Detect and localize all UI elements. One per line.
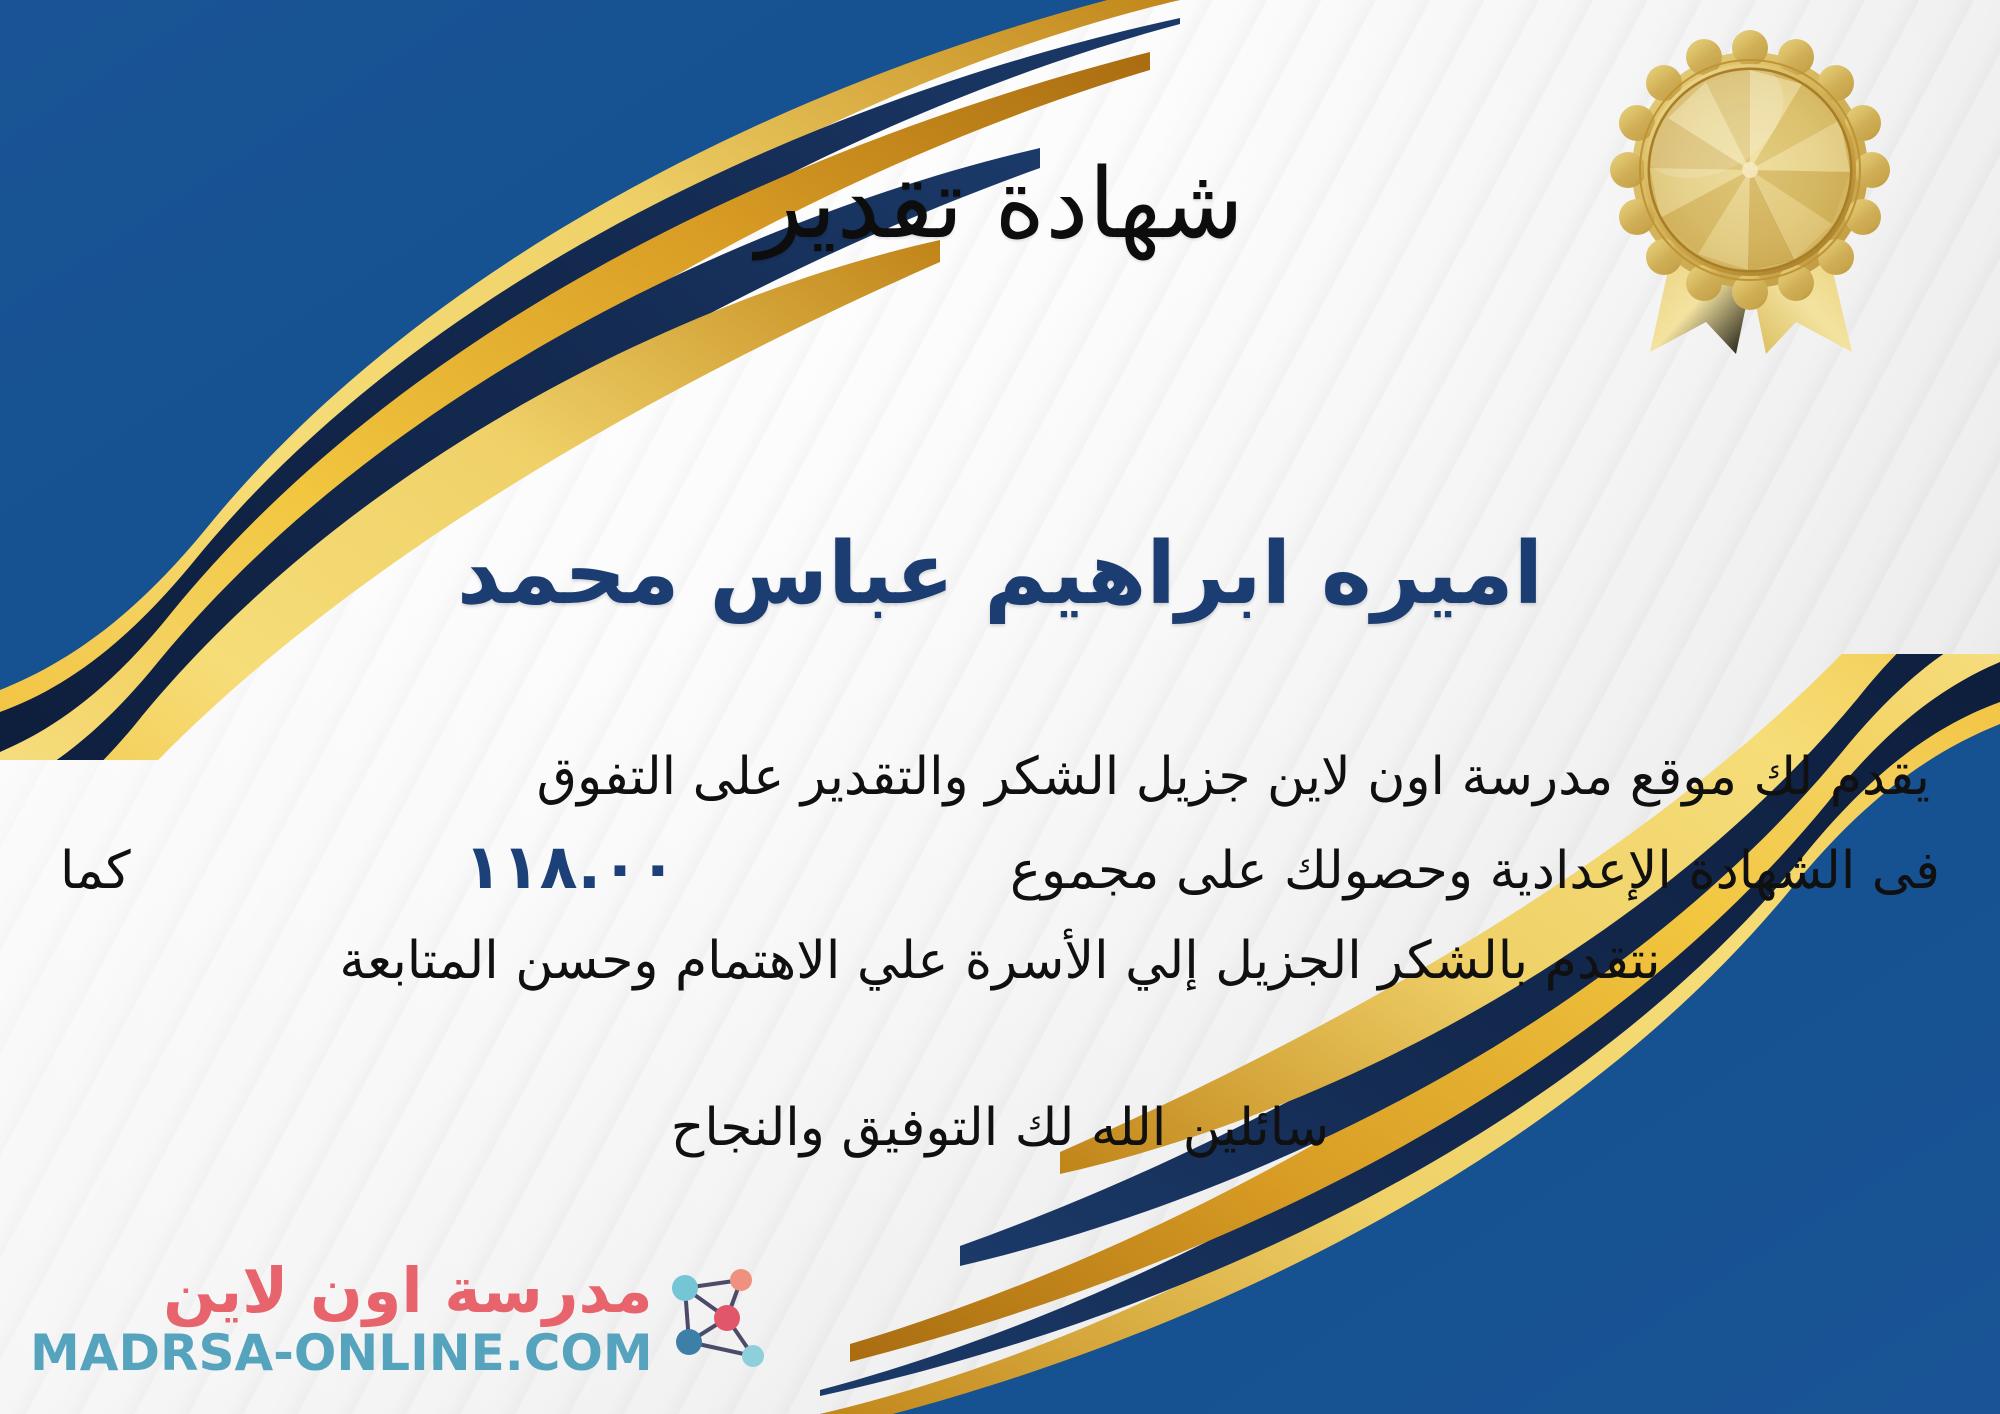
brand-name-arabic: مدرسة اون لاين	[163, 1260, 653, 1322]
corner-tl-navy-band	[0, 18, 1180, 760]
corner-tl-gold-band-1	[0, 0, 1180, 760]
total-score-value: ١١٨.٠٠	[464, 822, 677, 912]
corner-tl-gold-band-3	[0, 240, 940, 760]
body-line-1: يقدم لك موقع مدرسة اون لاين جزيل الشكر و…	[60, 732, 1940, 822]
body-line-2-tail: كما	[60, 826, 131, 916]
network-nodes-icon	[663, 1260, 775, 1378]
corner-tl-ornament	[0, 0, 1180, 760]
body-line-3: نتقدم بالشكر الجزيل إلي الأسرة علي الاهت…	[60, 916, 1940, 1006]
certificate-canvas: شهادة تقدير اميره ابراهيم عباس محمد يقدم…	[0, 0, 2000, 1414]
brand-text: مدرسة اون لاين MADRSA-ONLINE.COM	[30, 1260, 653, 1378]
certificate-body: يقدم لك موقع مدرسة اون لاين جزيل الشكر و…	[60, 732, 1940, 1006]
corner-tl-blue-field	[0, 0, 1180, 760]
closing-line: سائلين الله لك التوفيق والنجاح	[0, 1098, 2000, 1158]
certificate-title: شهادة تقدير	[0, 152, 2000, 257]
brand-logo[interactable]: مدرسة اون لاين MADRSA-ONLINE.COM	[30, 1260, 775, 1378]
body-line-2: فى الشهادة الإعدادية وحصولك على مجموع ١١…	[60, 822, 1940, 916]
brand-domain: MADRSA-ONLINE.COM	[30, 1328, 653, 1378]
body-line-2-text: فى الشهادة الإعدادية وحصولك على مجموع	[1010, 826, 1940, 916]
recipient-name: اميره ابراهيم عباس محمد	[0, 527, 2000, 622]
